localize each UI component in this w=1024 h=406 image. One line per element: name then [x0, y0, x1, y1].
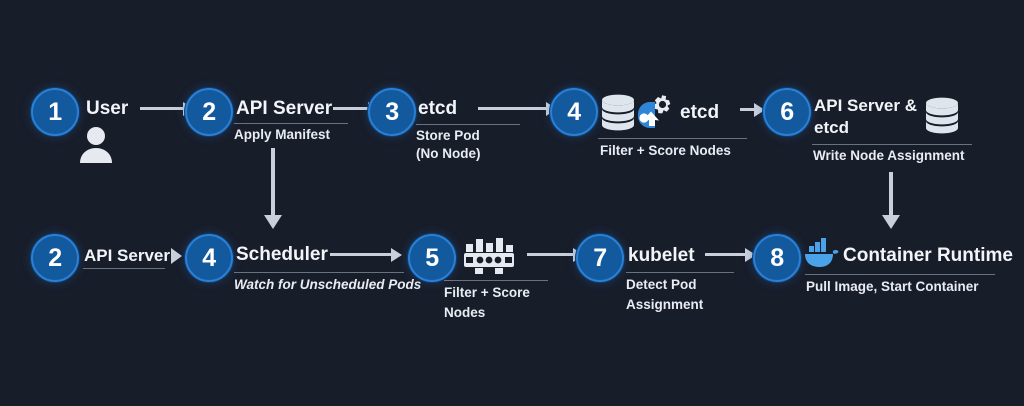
user-icon [76, 124, 116, 164]
arrow-scheduler-to-node [330, 253, 393, 256]
caption-detect-pod-line1: Detect Pod [626, 277, 697, 294]
caption-store-pod-line2: (No Node) [416, 146, 481, 163]
step-number: 6 [780, 100, 793, 125]
label-kubelet: kubelet [628, 245, 695, 267]
label-user: User [86, 98, 128, 120]
docker-whale-icon [803, 238, 843, 272]
divider-filter-score-bottom [444, 280, 548, 281]
step-node-8[interactable]: 8 [753, 234, 801, 282]
step-number: 4 [567, 100, 580, 125]
arrow-down-apiserver-to-scheduler [271, 148, 275, 216]
step-number: 2 [48, 246, 61, 271]
step-node-5[interactable]: 5 [408, 234, 456, 282]
divider-watch-unscheduled [234, 272, 404, 273]
divider-pull-image [805, 274, 995, 275]
step-number: 4 [202, 246, 215, 271]
step-number: 3 [385, 100, 398, 125]
caption-filter-score-nodes: Filter + Score Nodes [600, 143, 731, 160]
label-etcd-top-2: etcd [680, 102, 719, 124]
caption-watch-unscheduled: Watch for Unscheduled Pods [234, 277, 421, 294]
arrow-node-to-kubelet [527, 253, 575, 256]
label-scheduler: Scheduler [236, 244, 328, 266]
label-api-server-etcd-line2: etcd [814, 118, 849, 138]
step-node-7[interactable]: 7 [576, 234, 624, 282]
node-rack-icon [462, 238, 516, 276]
database-icon [921, 96, 963, 136]
step-node-2[interactable]: 2 [185, 88, 233, 136]
arrow-apiserver-to-etcd [333, 107, 370, 110]
caption-filter-score-line2: Nodes [444, 305, 485, 322]
step-node-1[interactable]: 1 [31, 88, 79, 136]
label-etcd-top: etcd [418, 98, 457, 120]
divider-filter-score-nodes [598, 138, 747, 139]
label-api-server-etcd-line1: API Server & [814, 96, 917, 116]
arrow-kubelet-to-runtime [705, 253, 747, 256]
caption-write-node-assignment: Write Node Assignment [813, 148, 965, 165]
label-api-server-top: API Server [236, 98, 332, 120]
step-node-4-bottom[interactable]: 4 [185, 234, 233, 282]
step-node-3[interactable]: 3 [368, 88, 416, 136]
arrow-scheduler-to-apiserver-etcd [740, 108, 756, 111]
caption-pull-image: Pull Image, Start Container [806, 279, 979, 296]
step-node-6[interactable]: 6 [763, 88, 811, 136]
step-number: 7 [593, 246, 606, 271]
caption-store-pod-line1: Store Pod [416, 128, 480, 145]
caption-filter-score-line1: Filter + Score [444, 285, 530, 302]
caption-detect-pod-line2: Assignment [626, 297, 703, 314]
diagram-canvas: 1 User 2 API Server Apply Manifest 3 etc… [0, 0, 1024, 406]
divider-write-node-assignment [812, 144, 972, 145]
step-number: 5 [425, 246, 438, 271]
arrow-user-to-apiserver [140, 107, 185, 110]
divider-store-pod [416, 124, 520, 125]
step-number: 2 [202, 100, 215, 125]
database-gear-icon [597, 93, 675, 133]
arrow-apiserver-to-scheduler-bottom [171, 248, 182, 264]
caption-apply-manifest: Apply Manifest [234, 127, 330, 144]
label-container-runtime: Container Runtime [843, 245, 1013, 267]
step-number: 8 [770, 246, 783, 271]
label-api-server-bottom: API Server [84, 246, 170, 266]
divider-api-server-bottom [83, 268, 165, 269]
arrow-down-etcd-to-container-runtime [889, 172, 893, 216]
step-node-2-bottom[interactable]: 2 [31, 234, 79, 282]
step-number: 1 [48, 100, 61, 125]
divider-detect-pod [626, 272, 734, 273]
arrow-etcd-to-scheduler [478, 107, 548, 110]
step-node-4-top[interactable]: 4 [550, 88, 598, 136]
divider-apply-manifest [234, 123, 348, 124]
